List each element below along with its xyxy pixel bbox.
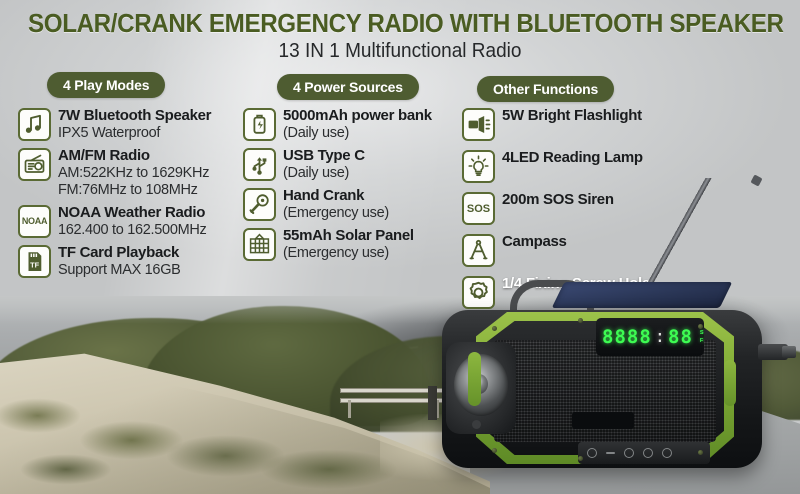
feature-flashlight: 5W Bright Flashlight <box>462 108 702 141</box>
feature-title: 4LED Reading Lamp <box>502 150 643 167</box>
feature-noaa-weather-radio: NOAA NOAA Weather Radio 162.400 to 162.5… <box>18 205 250 239</box>
page-title: SOLAR/CRANK EMERGENCY RADIO WITH BLUETOO… <box>28 8 772 39</box>
hand-crank-icon <box>243 188 276 221</box>
bumper-screw <box>492 326 497 331</box>
feature-subtitle: (Daily use) <box>283 165 365 182</box>
feature-subtitle: 162.400 to 162.500MHz <box>58 222 206 239</box>
feature-subtitle: (Daily use) <box>283 125 432 142</box>
feature-power-bank: 5000mAh power bank (Daily use) <box>243 108 468 142</box>
feature-subtitle: (Emergency use) <box>283 205 389 222</box>
led-colon: : <box>655 327 665 347</box>
page-subtitle: 13 IN 1 Multifunctional Radio <box>20 40 780 63</box>
feature-am-fm-radio: AM/FM Radio AM:522KHz to 1629KHz FM:76MH… <box>18 148 250 199</box>
radio-icon <box>18 148 51 181</box>
section-badge-other-functions: Other Functions <box>477 76 614 102</box>
feature-title: USB Type C <box>283 148 365 165</box>
led-display: 8888 : 88 ST ST FM kHz <box>596 318 704 356</box>
usb-icon <box>243 148 276 181</box>
bumper-screw <box>578 456 583 461</box>
feature-hand-crank: Hand Crank (Emergency use) <box>243 188 468 222</box>
bumper-screw <box>578 318 583 323</box>
feature-column-play-modes: 7W Bluetooth Speaker IPX5 Waterproof AM/… <box>18 108 250 285</box>
led-indicators: ST ST FM kHz <box>700 330 704 344</box>
bumper-screw <box>492 448 497 453</box>
led-indicator-3: FM <box>700 338 704 344</box>
section-badge-play-modes: 4 Play Modes <box>47 72 165 98</box>
feature-tf-card-playback: TF TF Card Playback Support MAX 16GB <box>18 245 250 279</box>
feature-column-power-sources: 5000mAh power bank (Daily use) USB Type … <box>243 108 468 268</box>
power-button-icon <box>587 448 597 458</box>
control-button-strip <box>578 442 710 464</box>
noaa-icon: NOAA <box>18 205 51 238</box>
strap-loop-left <box>468 352 481 406</box>
product-infographic: SOLAR/CRANK EMERGENCY RADIO WITH BLUETOO… <box>0 0 800 494</box>
feature-title: Campass <box>502 234 567 251</box>
section-badge-power-sources: 4 Power Sources <box>277 74 419 100</box>
led-digits-minutes: 88 <box>668 326 693 348</box>
reading-lamp-icon <box>462 150 495 183</box>
mode-button-icon <box>643 448 653 458</box>
antenna-base <box>782 346 796 358</box>
feature-title: 55mAh Solar Panel <box>283 228 414 245</box>
music-note-icon <box>18 108 51 141</box>
svg-text:TF: TF <box>30 260 40 269</box>
feature-title: TF Card Playback <box>58 245 181 262</box>
feature-usb-type-c: USB Type C (Daily use) <box>243 148 468 182</box>
feature-title: Hand Crank <box>283 188 389 205</box>
bumper-screw <box>698 324 703 329</box>
feature-subtitle: IPX5 Waterproof <box>58 125 211 142</box>
sos-icon: SOS <box>462 192 495 225</box>
led-indicator-1: ST <box>700 330 704 336</box>
feature-title: 5000mAh power bank <box>283 108 432 125</box>
strap-loop-right <box>724 360 736 406</box>
led-digits-hours: 8888 <box>602 326 652 348</box>
feature-title: 7W Bluetooth Speaker <box>58 108 211 125</box>
bumper-screw <box>698 450 703 455</box>
play-button-icon <box>624 448 634 458</box>
product-radio-image: 8888 : 88 ST ST FM kHz <box>432 296 800 494</box>
feature-subtitle: (Emergency use) <box>283 245 414 262</box>
volume-down-button-icon <box>606 452 615 454</box>
battery-icon <box>243 108 276 141</box>
feature-subtitle: AM:522KHz to 1629KHz <box>58 165 209 182</box>
feature-subtitle: Support MAX 16GB <box>58 262 181 279</box>
feature-title: AM/FM Radio <box>58 148 209 165</box>
feature-subtitle-2: FM:76MHz to 108MHz <box>58 182 209 199</box>
flashlight-sensor-dot <box>472 420 481 429</box>
grille-badge <box>572 412 634 429</box>
feature-solar-panel: 55mAh Solar Panel (Emergency use) <box>243 228 468 262</box>
noaa-icon-label: NOAA <box>20 207 49 236</box>
solar-panel-icon <box>243 228 276 261</box>
sos-icon-label: SOS <box>464 194 493 223</box>
light-button-icon <box>662 448 672 458</box>
solar-panel-top <box>552 282 733 308</box>
compass-icon <box>462 234 495 267</box>
feature-title: 5W Bright Flashlight <box>502 108 642 125</box>
feature-title: NOAA Weather Radio <box>58 205 206 222</box>
tf-card-icon: TF <box>18 245 51 278</box>
feature-bluetooth-speaker: 7W Bluetooth Speaker IPX5 Waterproof <box>18 108 250 142</box>
flashlight-icon <box>462 108 495 141</box>
